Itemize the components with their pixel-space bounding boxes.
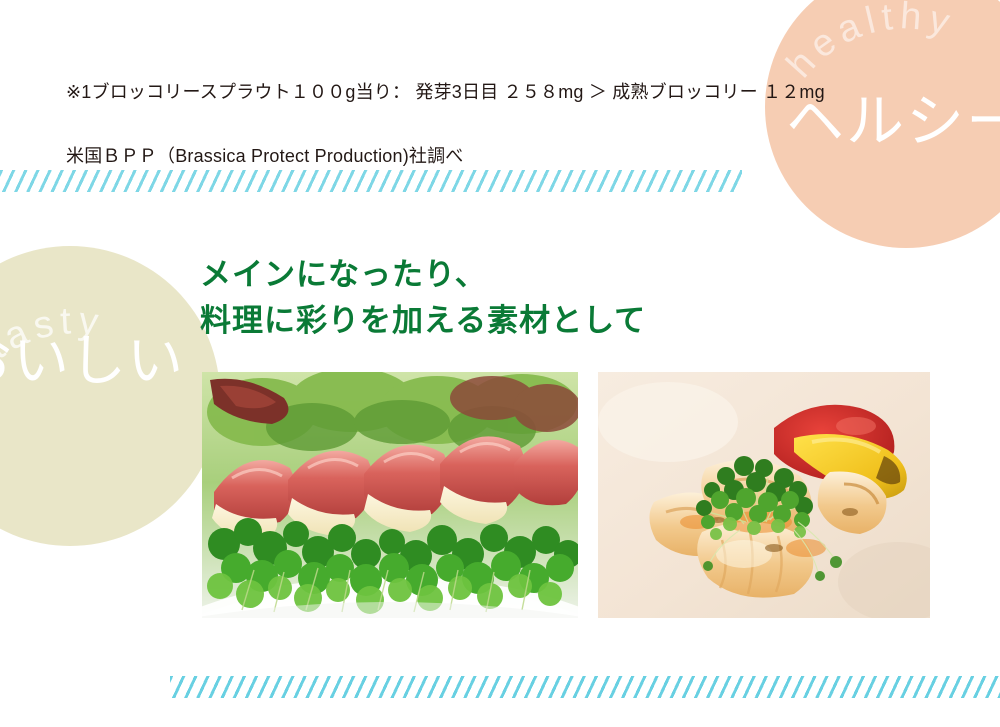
headline-line-2: 料理に彩りを加える素材として	[200, 298, 646, 344]
prosciutto-sprout-salad-photo	[202, 372, 578, 618]
page-headline: メインになったり、 料理に彩りを加える素材として	[200, 252, 646, 344]
badge-tasty: tasty おいしい	[0, 246, 220, 546]
prosciutto-photo-art	[202, 372, 578, 618]
page-root: tasty おいしい ※1ブロッコリースプラウト１００g当り： 発芽3日目 ２５…	[0, 0, 1000, 727]
divider-stripe-bottom	[170, 676, 1000, 698]
footnote-line-2: 米国ＢＰＰ（Brassica Protect Production)社調べ	[66, 140, 886, 172]
footnote-line-1: ※1ブロッコリースプラウト１００g当り： 発芽3日目 ２５８mg ＞ 成熟ブロッ…	[66, 76, 886, 108]
grilled-shrimp-sprout-photo	[598, 372, 930, 618]
headline-line-1: メインになったり、	[200, 252, 646, 298]
footnote-text: ※1ブロッコリースプラウト１００g当り： 発芽3日目 ２５８mg ＞ 成熟ブロッ…	[66, 44, 886, 204]
badge-tasty-main-label: おいしい	[0, 316, 220, 397]
shrimp-photo-art	[598, 372, 930, 618]
